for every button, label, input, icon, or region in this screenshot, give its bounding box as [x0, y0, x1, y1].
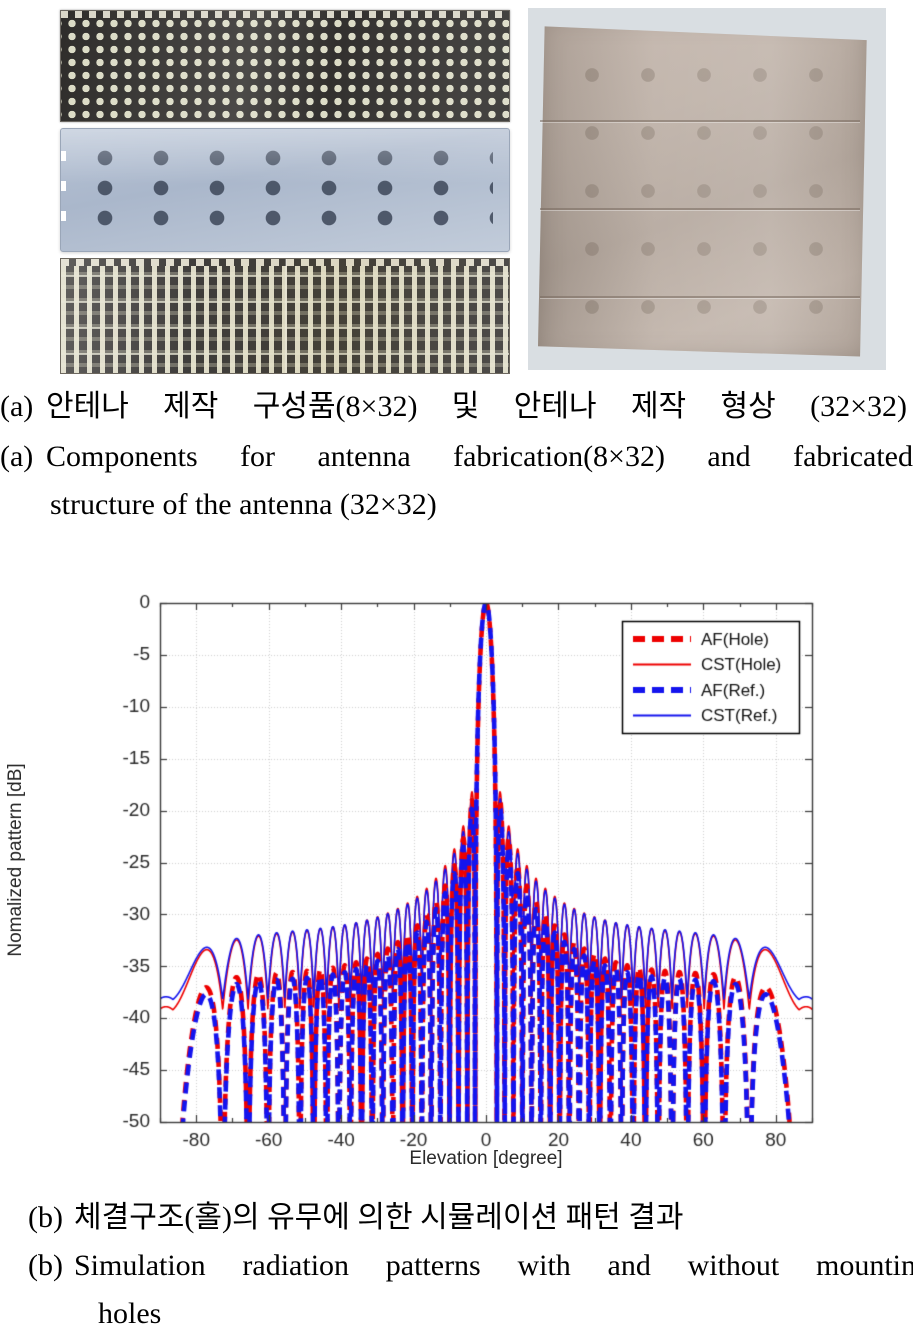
caption-a-text-en-1: Components for antenna fabrication(8×32)… [46, 436, 913, 478]
figure-a-photos [0, 0, 913, 378]
caption-b-mark-en: (b) [28, 1244, 74, 1288]
caption-a-text-ko: 안테나 제작 구성품(8×32) 및 안테나 제작 형상 (32×32) [46, 386, 913, 428]
antenna-spacer-plate-photo [60, 128, 510, 252]
radiation-pattern-chart: Nomalized pattern [dB] Elevation [degree… [0, 560, 913, 1180]
panel-shading [538, 16, 870, 360]
panel-seam [540, 120, 860, 122]
caption-a-mark-ko: (a) [0, 386, 46, 428]
panel-surface [538, 16, 870, 360]
antenna-feed-layer-photo [60, 258, 510, 374]
pattern-plot-canvas [0, 560, 913, 1180]
photo-sheen [61, 129, 509, 251]
panel-seam [540, 296, 860, 298]
figure-a-caption-english-line1: (a) Components for antenna fabrication(8… [0, 436, 913, 478]
fabricated-antenna-panel-photo [528, 8, 886, 370]
antenna-radiating-layer-photo [60, 10, 510, 122]
photo-sheen [61, 11, 509, 121]
caption-a-mark-en: (a) [0, 436, 46, 478]
x-axis-title: Elevation [degree] [160, 1148, 812, 1170]
caption-b-mark-ko: (b) [28, 1196, 74, 1240]
panel-seam [540, 208, 860, 210]
caption-b-text-ko: 체결구조(홀)의 유무에 의한 시뮬레이션 패턴 결과 [74, 1196, 913, 1240]
figure-b-caption-korean: (b) 체결구조(홀)의 유무에 의한 시뮬레이션 패턴 결과 [0, 1196, 913, 1240]
figure-b-caption-english-line1: (b) Simulation radiation patterns with a… [0, 1244, 913, 1288]
figure-b-caption-english-line2: holes [0, 1292, 913, 1336]
caption-b-text-en-1: Simulation radiation patterns with and w… [74, 1244, 913, 1288]
photo-sheen [61, 259, 509, 373]
figure-a-caption-korean: (a) 안테나 제작 구성품(8×32) 및 안테나 제작 형상 (32×32) [0, 386, 913, 428]
figure-a-caption-english-line2: structure of the antenna (32×32) [0, 484, 913, 526]
y-axis-title: Nomalized pattern [dB] [5, 763, 27, 956]
